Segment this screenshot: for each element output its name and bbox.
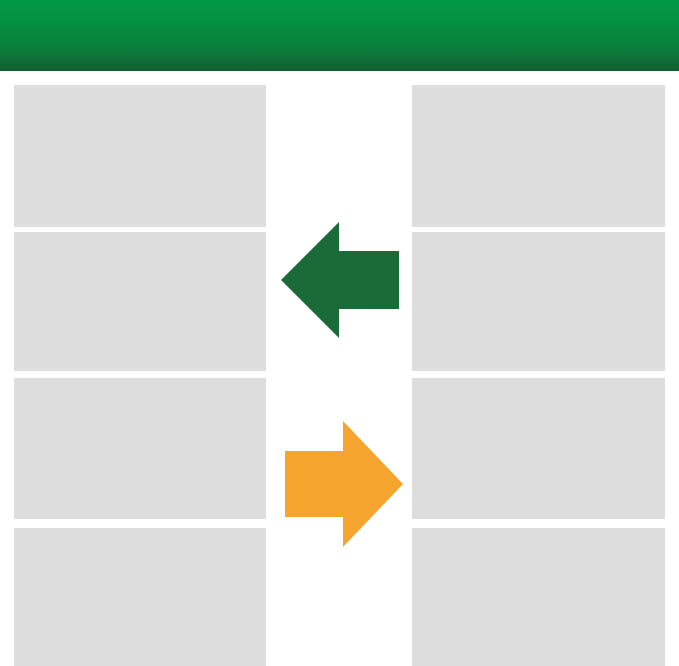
unripe-pale-strawberries <box>14 378 266 519</box>
arrow-right-icon <box>285 419 403 549</box>
ripe-red-strawberries <box>412 378 665 519</box>
header-banner <box>0 0 679 71</box>
seedlings-sprouting-in-dark-soil <box>14 85 266 227</box>
promo-image <box>0 0 679 666</box>
photo-cell-before-row2 <box>14 232 266 371</box>
before-arrow <box>281 221 399 339</box>
photo-cell-after-row1 <box>412 85 665 227</box>
photo-cell-after-row3 <box>412 378 665 519</box>
purple-succulent-rosette <box>412 528 665 666</box>
photo-cell-before-row3 <box>14 378 266 519</box>
orange-berry-plant-closeup <box>14 232 266 371</box>
photo-cell-before-row1 <box>14 85 266 227</box>
pink-roses-in-bloom <box>412 232 665 371</box>
photo-cell-before-row4 <box>14 528 266 666</box>
healthy-green-seedlings-in-soil <box>412 85 665 227</box>
before-after-grid <box>0 71 679 666</box>
arrow-left-icon <box>281 221 399 339</box>
after-arrow <box>285 419 403 549</box>
pale-green-succulent-rosette <box>14 528 266 666</box>
photo-cell-after-row4 <box>412 528 665 666</box>
photo-cell-after-row2 <box>412 232 665 371</box>
